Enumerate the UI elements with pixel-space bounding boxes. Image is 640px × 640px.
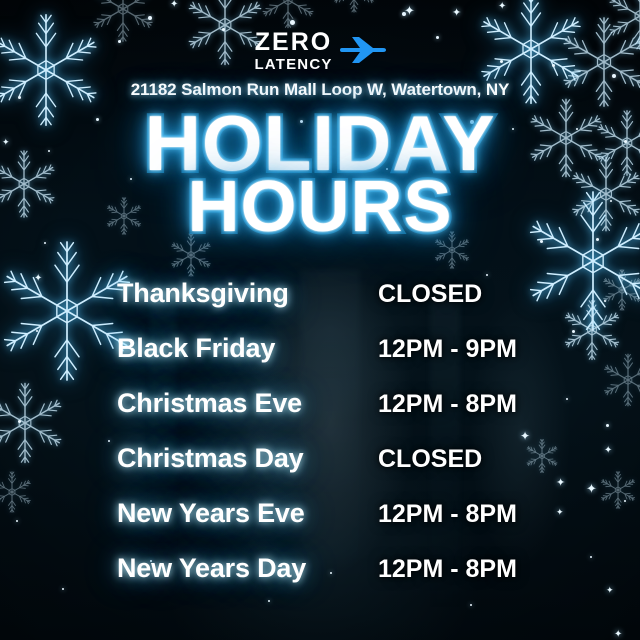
snow-dot xyxy=(62,588,64,590)
star-icon: ✦ xyxy=(556,478,565,489)
snow-dot xyxy=(590,556,592,558)
star-icon: ✦ xyxy=(614,630,622,640)
snowflake-icon xyxy=(598,470,638,510)
snow-dot xyxy=(36,330,38,332)
hours-day-label: Christmas Eve xyxy=(117,388,378,419)
snow-dot xyxy=(606,424,609,427)
star-icon: ✦ xyxy=(586,482,597,495)
hours-row: New Years Day12PM - 8PM xyxy=(117,553,557,608)
star-icon: ✦ xyxy=(606,586,614,595)
star-icon: ✦ xyxy=(34,274,42,284)
holiday-hours-poster: ✦✦✦✦✦✦✦✦✦✦✦✦✦ ZERO LATENCY 21182 Salmon … xyxy=(0,0,640,640)
page-title: HOLIDAY HOURS xyxy=(0,108,640,240)
star-icon: ✦ xyxy=(452,8,461,19)
snow-dot xyxy=(290,20,295,25)
holiday-hours-list: ThanksgivingCLOSEDBlack Friday12PM - 9PM… xyxy=(117,278,557,608)
snow-dot xyxy=(44,242,46,244)
snow-dot xyxy=(148,16,152,20)
hours-time-value: CLOSED xyxy=(378,280,482,309)
venue-address: 21182 Salmon Run Mall Loop W, Watertown,… xyxy=(0,80,640,100)
hours-time-value: 12PM - 9PM xyxy=(378,335,517,364)
snow-dot xyxy=(572,330,575,333)
star-icon: ✦ xyxy=(498,2,506,12)
snow-dot xyxy=(604,300,606,302)
brand-logo: ZERO LATENCY xyxy=(0,30,640,73)
hours-day-label: New Years Eve xyxy=(117,498,378,529)
snow-dot xyxy=(540,240,543,243)
snowflake-icon xyxy=(0,380,68,466)
snowflake-icon xyxy=(600,352,640,408)
hours-day-label: Christmas Day xyxy=(117,443,378,474)
snow-dot xyxy=(624,500,626,502)
snowflake-icon xyxy=(258,0,318,30)
snow-dot xyxy=(18,420,21,423)
snowflake-icon xyxy=(0,470,34,514)
snow-dot xyxy=(486,274,488,276)
star-icon: ✦ xyxy=(170,0,178,10)
brand-name-zero: ZERO xyxy=(255,30,332,55)
brand-wordmark: ZERO LATENCY xyxy=(254,30,332,73)
hours-row: Black Friday12PM - 9PM xyxy=(117,333,557,388)
hours-day-label: Thanksgiving xyxy=(117,278,378,309)
hours-row: Christmas DayCLOSED xyxy=(117,443,557,498)
snow-dot xyxy=(16,520,18,522)
hours-time-value: 12PM - 8PM xyxy=(378,555,517,584)
snow-dot xyxy=(566,398,568,400)
star-icon: ✦ xyxy=(556,508,564,517)
snowflake-icon xyxy=(330,0,378,14)
hours-day-label: New Years Day xyxy=(117,553,378,584)
hours-day-label: Black Friday xyxy=(117,333,378,364)
star-icon: ✦ xyxy=(404,4,415,17)
airplane-icon xyxy=(340,35,386,70)
star-icon: ✦ xyxy=(604,446,612,456)
hours-time-value: 12PM - 8PM xyxy=(378,390,517,419)
snow-dot xyxy=(612,74,616,78)
brand-name-latency: LATENCY xyxy=(254,56,332,73)
title-line-hours: HOURS xyxy=(0,174,640,240)
hours-row: Christmas Eve12PM - 8PM xyxy=(117,388,557,443)
snow-dot xyxy=(108,440,110,442)
snowflake-icon xyxy=(600,268,640,312)
hours-row: ThanksgivingCLOSED xyxy=(117,278,557,333)
hours-time-value: CLOSED xyxy=(378,445,482,474)
hours-time-value: 12PM - 8PM xyxy=(378,500,517,529)
hours-row: New Years Eve12PM - 8PM xyxy=(117,498,557,553)
